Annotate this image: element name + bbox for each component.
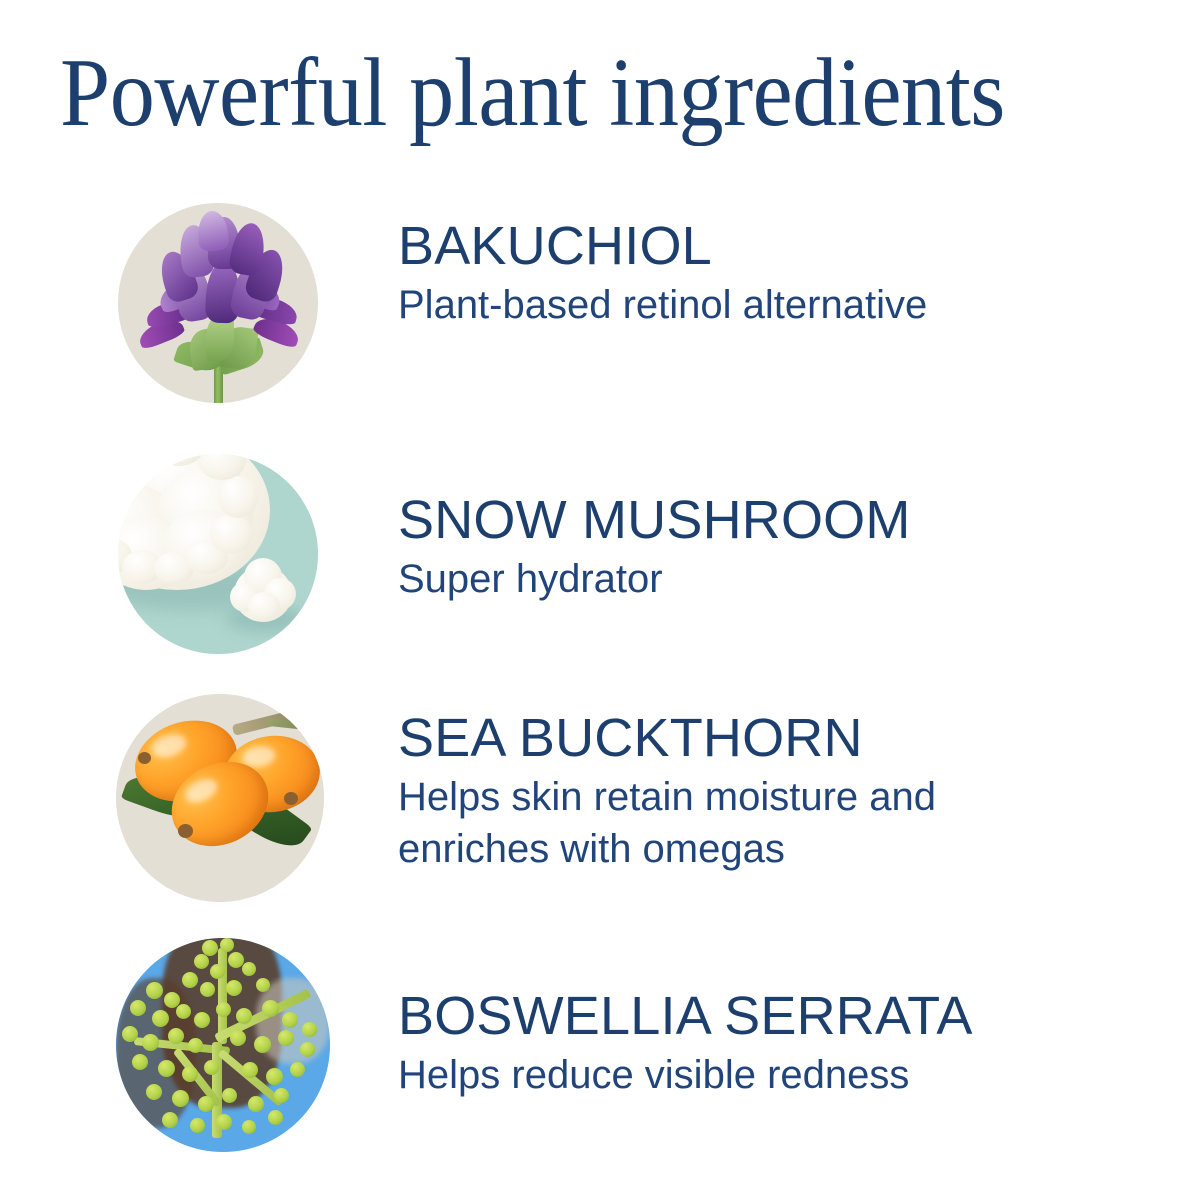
list-item: BOSWELLIA SERRATA Helps reduce visible r… <box>0 936 1185 1154</box>
ingredient-description: Helps reduce visible redness <box>398 1050 1038 1101</box>
ingredient-description: Plant-based retinol alternative <box>398 280 1038 331</box>
ingredients-infographic: Powerful plant ingredients <box>0 0 1185 1200</box>
ingredient-name: SNOW MUSHROOM <box>398 490 1098 550</box>
ingredient-description: Helps skin retain moisture and enriches … <box>398 772 1038 874</box>
ingredient-name: BAKUCHIOL <box>398 216 1098 276</box>
snow-mushroom-photo <box>118 454 318 654</box>
ingredient-list: BAKUCHIOL Plant-based retinol alternativ… <box>0 0 1185 1200</box>
boswellia-serrata-photo <box>116 938 330 1152</box>
ingredient-description: Super hydrator <box>398 554 1038 605</box>
list-item: SEA BUCKTHORN Helps skin retain moisture… <box>0 692 1185 904</box>
babchi-flower-photo <box>118 203 318 403</box>
list-item: SNOW MUSHROOM Super hydrator <box>0 452 1185 656</box>
ingredient-name: SEA BUCKTHORN <box>398 708 1098 768</box>
ingredient-name: BOSWELLIA SERRATA <box>398 986 1098 1046</box>
list-item: BAKUCHIOL Plant-based retinol alternativ… <box>0 200 1185 406</box>
sea-buckthorn-photo <box>116 694 324 902</box>
